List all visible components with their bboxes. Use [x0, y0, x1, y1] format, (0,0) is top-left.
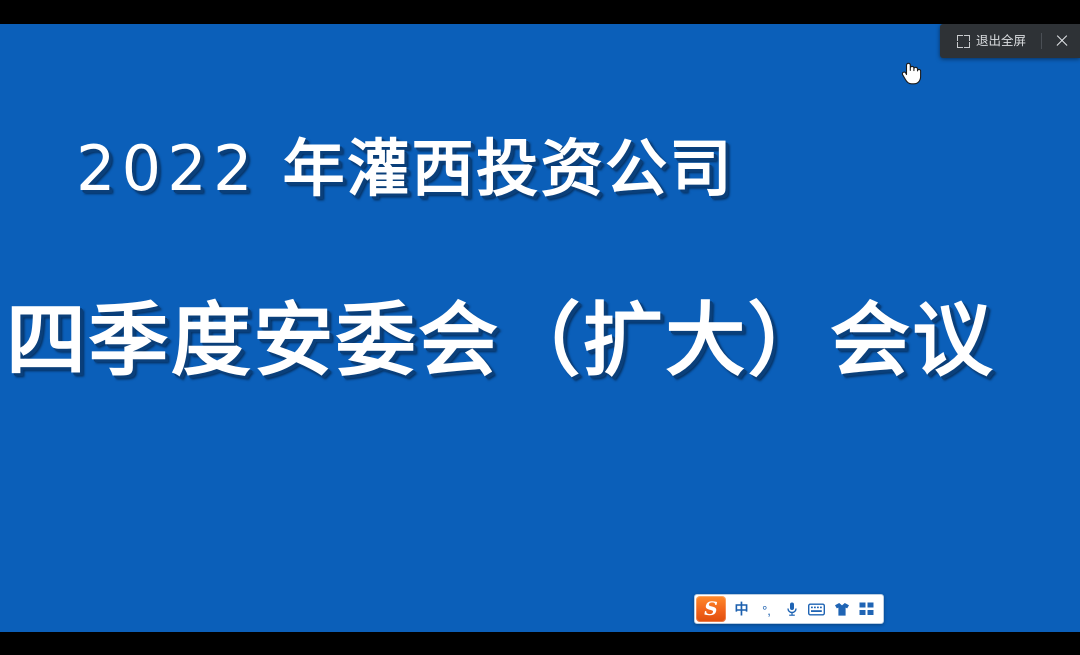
slide-title-line-2: 四季度安委会（扩大）会议	[6, 301, 995, 381]
close-button[interactable]	[1046, 27, 1078, 55]
slide-title-line-1-text: 年灌西投资公司	[283, 132, 734, 205]
chinese-mode-toggle[interactable]: 中	[729, 596, 754, 622]
sogou-ime-status-bar[interactable]: S 中 °,	[694, 594, 884, 624]
exit-fullscreen-label: 退出全屏	[976, 35, 1026, 48]
toolbox-icon[interactable]	[854, 596, 879, 622]
punctuation-toggle[interactable]: °,	[754, 595, 779, 623]
fullscreen-control-bar: 退出全屏	[940, 24, 1080, 58]
expand-arrows-icon	[957, 35, 970, 48]
voice-input-icon[interactable]	[779, 596, 804, 622]
toolbar-divider	[1041, 33, 1042, 49]
presentation-slide[interactable]: 2022 年灌西投资公司 四季度安委会（扩大）会议 S 中 °,	[0, 24, 1080, 632]
exit-fullscreen-button[interactable]: 退出全屏	[948, 27, 1035, 55]
soft-keyboard-icon[interactable]	[804, 596, 829, 622]
skin-icon[interactable]	[829, 596, 854, 622]
sogou-logo-icon[interactable]: S	[696, 596, 726, 622]
slide-title-year: 2022	[76, 132, 259, 205]
slide-title-line-1: 2022 年灌西投资公司	[76, 138, 734, 200]
fullscreen-video-screen: 2022 年灌西投资公司 四季度安委会（扩大）会议 S 中 °,	[0, 0, 1080, 655]
